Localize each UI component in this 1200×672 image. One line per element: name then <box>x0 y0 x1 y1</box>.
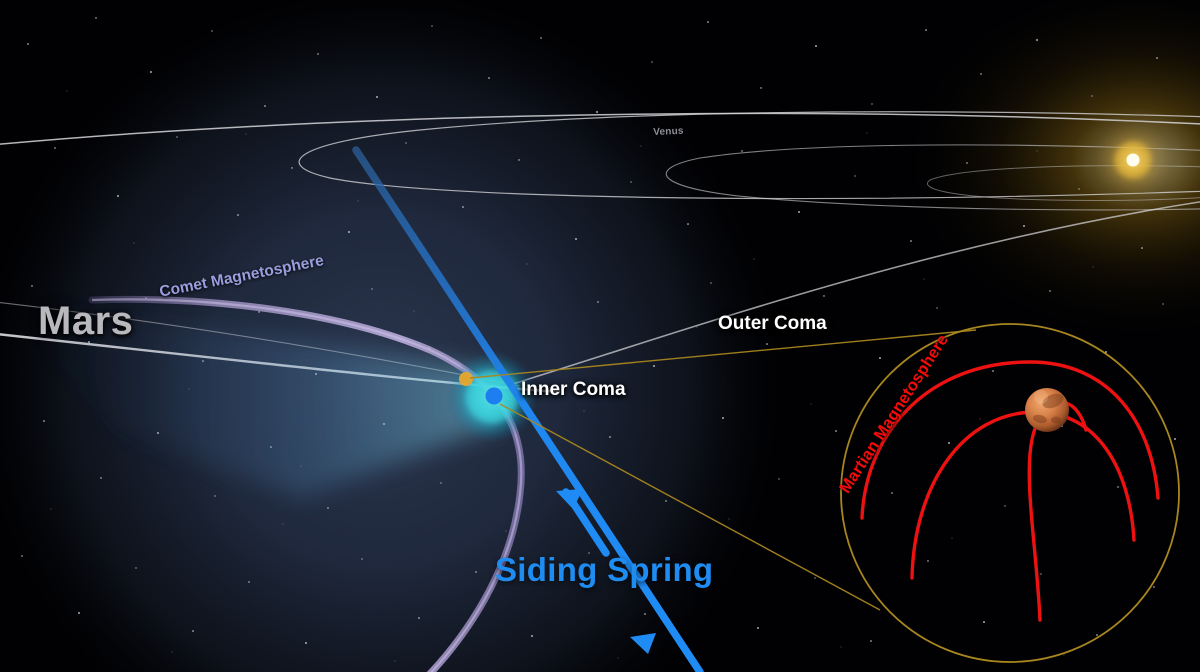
label-mars: Mars <box>38 299 133 344</box>
label-inner-coma: Inner Coma <box>521 379 626 401</box>
field-arc-middle <box>912 412 1134 578</box>
label-venus: Venus <box>653 126 684 138</box>
mars-planet-inset <box>1025 388 1069 432</box>
space-diagram-scene: Mars Comet Magnetosphere Inner Coma Oute… <box>0 0 1200 672</box>
label-siding-spring: Siding Spring <box>495 551 713 589</box>
callout-line-upper <box>470 330 976 378</box>
field-arc-inner <box>1029 402 1086 620</box>
label-outer-coma: Outer Coma <box>718 313 827 335</box>
mars-highlight <box>1034 390 1048 404</box>
